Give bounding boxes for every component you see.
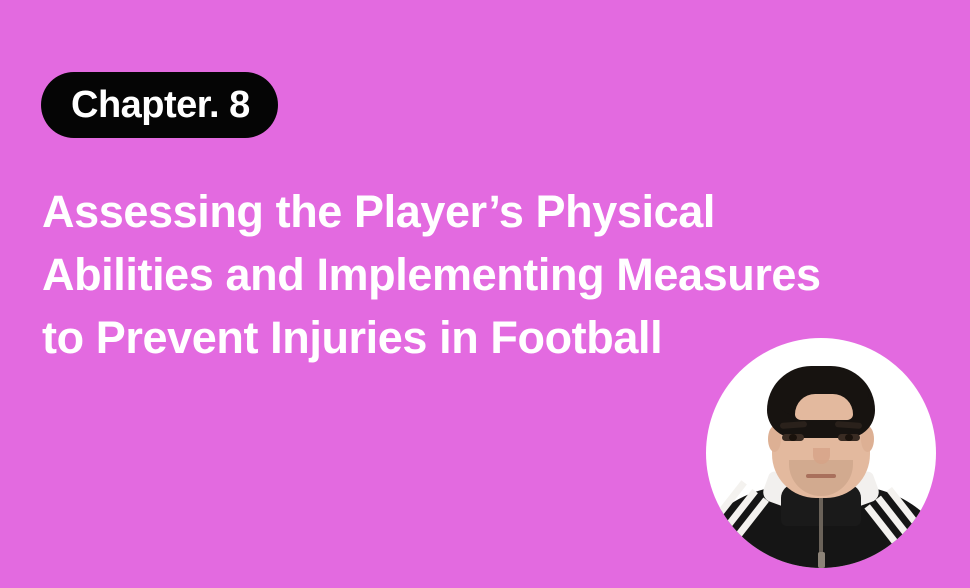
portrait-eye-right bbox=[838, 434, 860, 441]
portrait-photo bbox=[706, 338, 936, 568]
portrait-eye-left bbox=[782, 434, 804, 441]
portrait-forehead bbox=[795, 394, 853, 420]
portrait-mouth bbox=[806, 474, 836, 478]
title-line-1: Assessing the Player’s Physical bbox=[42, 180, 932, 243]
title-line-2: Abilities and Implementing Measures bbox=[42, 243, 932, 306]
chapter-badge: Chapter. 8 bbox=[41, 72, 278, 138]
portrait-nose bbox=[813, 448, 830, 464]
slide-canvas: Chapter. 8 Assessing the Player’s Physic… bbox=[0, 0, 970, 588]
portrait-zipper-pull bbox=[818, 552, 825, 568]
avatar bbox=[706, 338, 936, 568]
chapter-badge-label: Chapter. 8 bbox=[71, 86, 250, 124]
